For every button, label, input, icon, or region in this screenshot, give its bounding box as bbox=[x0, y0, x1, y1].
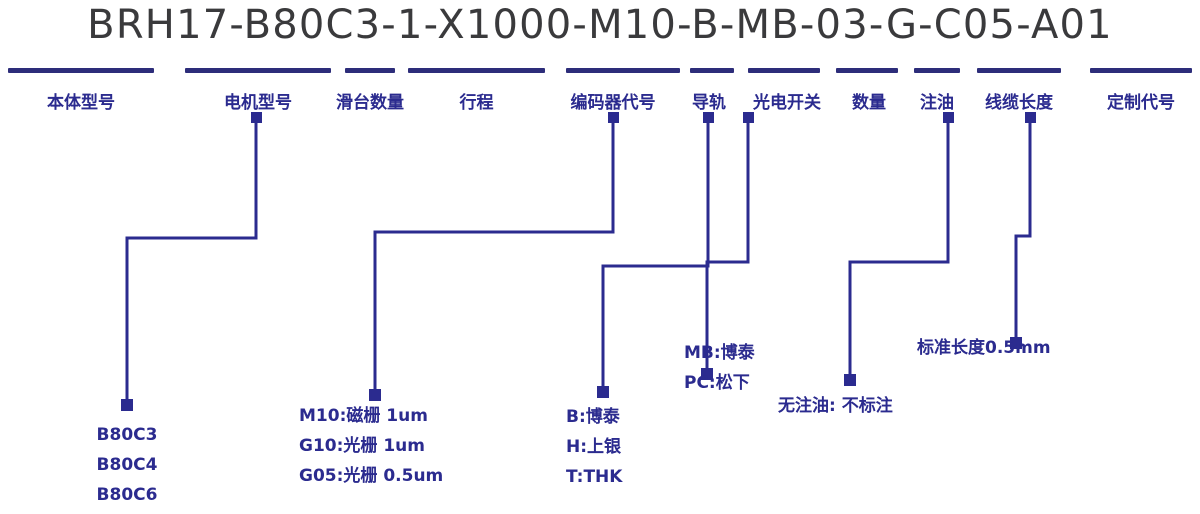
option-item: G05:光栅 0.5um bbox=[299, 461, 443, 491]
options-body-model: B80C3 B80C4 B80C6 bbox=[57, 420, 197, 510]
segment-underline-xingcheng bbox=[408, 68, 545, 73]
segment-underline-zhuyou bbox=[914, 68, 960, 73]
segment-underline-dianji bbox=[185, 68, 331, 73]
options-rail: B:博泰 H:上银 T:THK bbox=[566, 402, 622, 492]
segment-underline-dingzhi bbox=[1090, 68, 1192, 73]
option-item: MB:博泰 bbox=[684, 338, 755, 368]
category-label-daogui: 导轨 bbox=[678, 88, 740, 113]
option-item: B:博泰 bbox=[566, 402, 622, 432]
segment-underline-xianlan bbox=[977, 68, 1061, 73]
category-label-benti: 本体型号 bbox=[8, 88, 154, 113]
segment-underline-daogui bbox=[690, 68, 734, 73]
options-cable-length: 标准长度0.5mm bbox=[917, 333, 1051, 363]
product-code-text: BRH17-B80C3-1-X1000-M10-B-MB-03-G-C05-A0… bbox=[0, 2, 1200, 48]
option-item: PC:松下 bbox=[684, 368, 755, 398]
option-item: T:THK bbox=[566, 462, 622, 492]
category-label-guangdian: 光电开关 bbox=[742, 88, 832, 113]
category-label-bianmaqi: 编码器代号 bbox=[551, 88, 675, 113]
category-label-dianji: 电机型号 bbox=[185, 88, 331, 113]
category-label-shuliang: 数量 bbox=[838, 88, 900, 113]
segment-underline-guangdian bbox=[748, 68, 820, 73]
category-label-xingcheng: 行程 bbox=[408, 88, 545, 113]
segment-underline-benti bbox=[8, 68, 154, 73]
category-label-zhuyou: 注油 bbox=[908, 88, 966, 113]
options-encoder: M10:磁栅 1um G10:光栅 1um G05:光栅 0.5um bbox=[299, 401, 443, 491]
segment-underline-huatai bbox=[345, 68, 395, 73]
product-code-diagram: BRH17-B80C3-1-X1000-M10-B-MB-03-G-C05-A0… bbox=[0, 0, 1200, 514]
option-item: M10:磁栅 1um bbox=[299, 401, 443, 431]
option-item: B80C6 bbox=[57, 480, 197, 510]
category-label-dingzhi: 定制代号 bbox=[1090, 88, 1192, 113]
options-photo-switch: MB:博泰 PC:松下 bbox=[684, 338, 755, 398]
category-label-xianlan: 线缆长度 bbox=[977, 88, 1061, 113]
options-oil: 无注油: 不标注 bbox=[778, 391, 893, 421]
segment-underline-shuliang bbox=[836, 68, 898, 73]
option-item: G10:光栅 1um bbox=[299, 431, 443, 461]
segment-underline-bianmaqi bbox=[566, 68, 680, 73]
option-item: 标准长度0.5mm bbox=[917, 333, 1051, 363]
option-item: B80C4 bbox=[57, 450, 197, 480]
option-item: B80C3 bbox=[57, 420, 197, 450]
option-item: 无注油: 不标注 bbox=[778, 391, 893, 421]
option-item: H:上银 bbox=[566, 432, 622, 462]
